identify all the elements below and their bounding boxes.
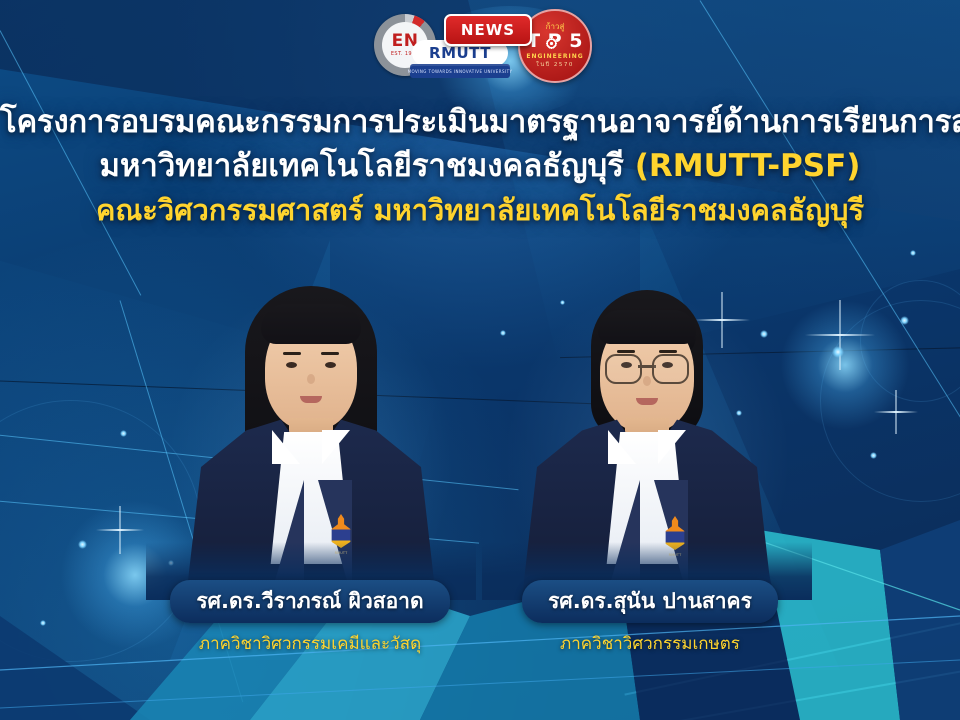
eyebrow-left — [617, 350, 635, 353]
logo-row: EN EST. 1975 NEWS RMUTT MOVING TOWARDS I… — [0, 8, 960, 84]
name-plate-person-1: รศ.ดร.วีราภรณ์ ผิวสอาด ภาควิชาวิศวกรรมเค… — [140, 580, 480, 657]
top5-year: ในปี 2570 — [536, 61, 574, 69]
name-pill-1: รศ.ดร.วีราภรณ์ ผิวสอาด — [170, 580, 449, 623]
rmutt-tagline: MOVING TOWARDS INNOVATIVE UNIVERSITY — [408, 69, 513, 74]
title-line-2: มหาวิทยาลัยเทคโนโลยีราชมงคลธัญบุรี (RMUT… — [0, 148, 960, 185]
person-2-name: รศ.ดร.สุนัน ปานสาคร — [548, 589, 752, 613]
rmutt-wordmark: RMUTT — [429, 44, 491, 62]
name-plate-person-2: รศ.ดร.สุนัน ปานสาคร ภาควิชาวิศวกรรมเกษตร — [480, 580, 820, 657]
portrait-group: RMUTT — [0, 268, 960, 608]
title-line-1: โครงการอบรมคณะกรรมการประเมินมาตรฐานอาจาร… — [0, 104, 960, 141]
eyebrow-left — [283, 352, 301, 355]
eyebrow-right — [659, 350, 677, 353]
eye-left — [286, 362, 297, 368]
collar-right — [322, 430, 350, 464]
mouth — [300, 396, 322, 403]
mouth — [636, 398, 658, 405]
lens-right — [652, 354, 689, 384]
portrait-person-2: RMUTT — [522, 268, 772, 598]
eyeglasses-icon — [605, 354, 689, 380]
title-block: โครงการอบรมคณะกรรมการประเมินมาตรฐานอาจาร… — [0, 104, 960, 227]
portrait-person-1: RMUTT — [186, 268, 436, 598]
sparkle-9 — [910, 250, 916, 256]
target-icon — [546, 38, 557, 49]
collar-left — [272, 430, 300, 464]
top5-subtitle: ENGINEERING — [526, 53, 583, 60]
collar-right — [658, 430, 686, 464]
lens-left — [605, 354, 642, 384]
news-badge-label: NEWS — [461, 21, 515, 39]
person-2-department: ภาควิชาวิศวกรรมเกษตร — [480, 630, 820, 657]
title-line-2-main: มหาวิทยาลัยเทคโนโลยีราชมงคลธัญบุรี — [100, 148, 635, 184]
hair-fringe — [261, 304, 361, 344]
name-pill-2: รศ.ดร.สุนัน ปานสาคร — [522, 580, 778, 623]
person-1-department: ภาควิชาวิศวกรรมเคมีและวัสดุ — [140, 630, 480, 657]
eyebrow-right — [321, 352, 339, 355]
banner-canvas: EN EST. 1975 NEWS RMUTT MOVING TOWARDS I… — [0, 0, 960, 720]
news-badge: NEWS — [444, 14, 532, 46]
person-1-name: รศ.ดร.วีราภรณ์ ผิวสอาด — [196, 589, 423, 613]
hair-fringe — [598, 310, 696, 344]
eye-right — [325, 362, 336, 368]
title-line-2-accent: (RMUTT-PSF) — [635, 148, 861, 184]
rmutt-tagline-strip: MOVING TOWARDS INNOVATIVE UNIVERSITY — [410, 64, 510, 78]
title-line-3: คณะวิศวกรรมศาสตร์ มหาวิทยาลัยเทคโนโลยีรา… — [0, 193, 960, 227]
rmutt-en-news-logo: EN EST. 1975 NEWS RMUTT MOVING TOWARDS I… — [368, 10, 508, 82]
nose — [307, 374, 315, 384]
collar-left — [608, 430, 636, 464]
name-plate-group: รศ.ดร.วีราภรณ์ ผิวสอาด ภาควิชาวิศวกรรมเค… — [0, 580, 960, 660]
